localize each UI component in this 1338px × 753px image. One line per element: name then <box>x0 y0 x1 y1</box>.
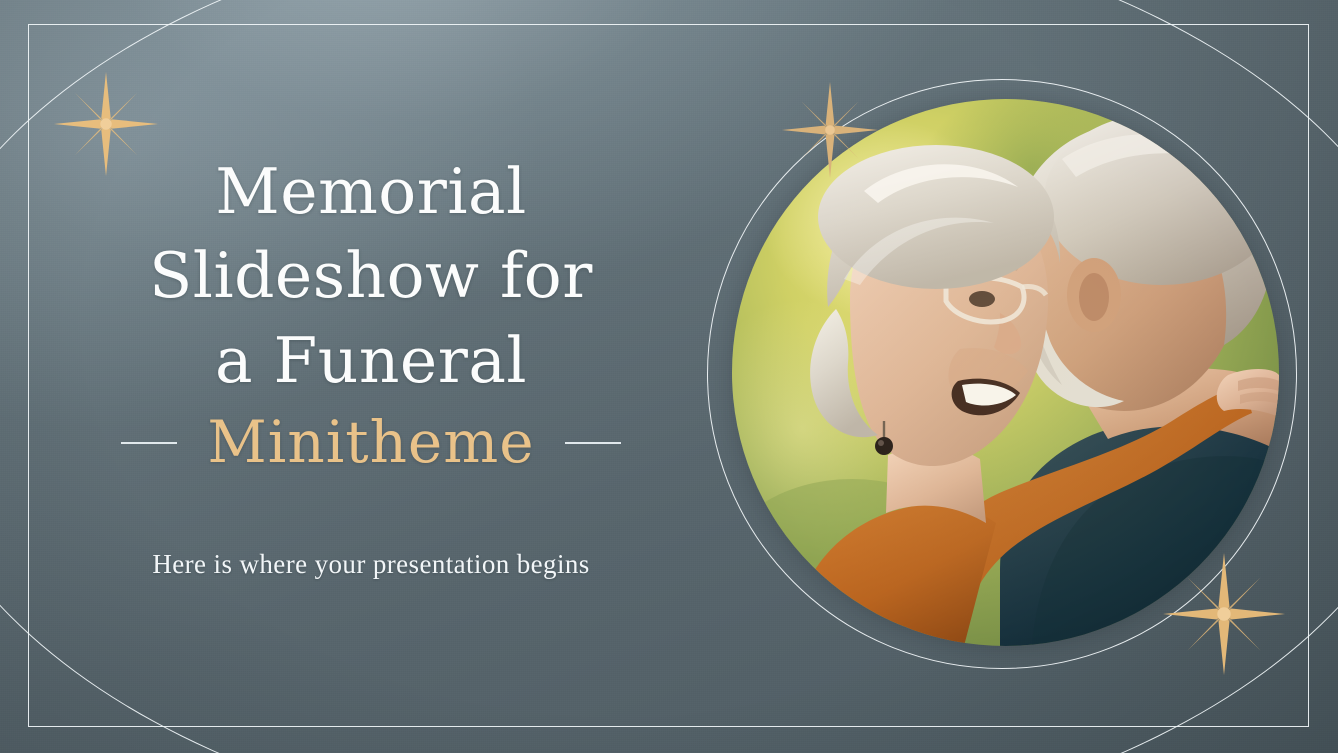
subtitle: Here is where your presentation begins <box>62 549 680 580</box>
minitheme-row: Minitheme <box>62 411 680 475</box>
hero-photo <box>732 99 1279 646</box>
page-title: Memorial Slideshow for a Funeral <box>62 150 680 403</box>
minitheme-accent-text: Minitheme <box>207 411 534 475</box>
title-line-2: Slideshow for <box>62 234 680 318</box>
rule-right-divider <box>565 442 621 444</box>
title-text-block: Memorial Slideshow for a Funeral Minithe… <box>62 150 680 580</box>
title-slide: Memorial Slideshow for a Funeral Minithe… <box>0 0 1338 753</box>
title-line-1: Memorial <box>62 150 680 234</box>
title-line-3: a Funeral <box>62 319 680 403</box>
rule-left-divider <box>121 442 177 444</box>
